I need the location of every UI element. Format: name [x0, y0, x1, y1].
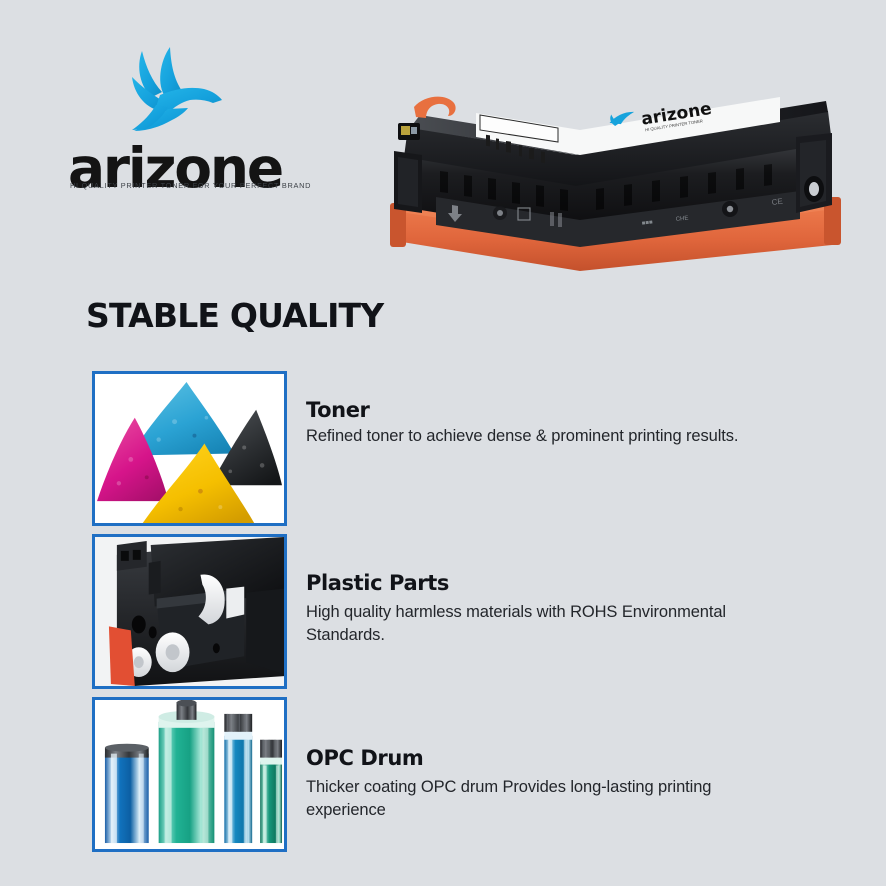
feature-title: OPC Drum	[306, 746, 776, 771]
opc-drum-icon	[92, 697, 287, 852]
feature-description: Thicker coating OPC drum Provides long-l…	[306, 776, 776, 821]
plastic-parts-icon	[92, 534, 287, 689]
feature-text: Toner Refined toner to achieve dense & p…	[306, 398, 776, 448]
feature-title: Plastic Parts	[306, 571, 776, 596]
cmyk-toner-powder-icon	[92, 371, 287, 526]
feature-list: Toner Refined toner to achieve dense & p…	[0, 371, 886, 860]
feature-text: OPC Drum Thicker coating OPC drum Provid…	[306, 746, 776, 821]
feature-description: High quality harmless materials with ROH…	[306, 601, 776, 646]
feature-text: Plastic Parts High quality harmless mate…	[306, 571, 776, 646]
bird-icon	[116, 45, 234, 137]
list-item: Toner Refined toner to achieve dense & p…	[0, 371, 886, 534]
brand-tagline: HI QUALITY PRINTER TONER FOR YOUR PERFEC…	[70, 181, 311, 190]
page-title: STABLE QUALITY	[86, 296, 383, 335]
svg-text:CE: CE	[771, 197, 783, 207]
feature-description: Refined toner to achieve dense & promine…	[306, 425, 776, 448]
toner-cartridge-icon: arizone HI QUALITY PRINTER TONER	[380, 85, 850, 275]
feature-title: Toner	[306, 398, 776, 423]
list-item: Plastic Parts High quality harmless mate…	[0, 534, 886, 697]
hero-section: arizone® HI QUALITY PRINTER TONER FOR YO…	[0, 0, 886, 286]
list-item: OPC Drum Thicker coating OPC drum Provid…	[0, 697, 886, 860]
